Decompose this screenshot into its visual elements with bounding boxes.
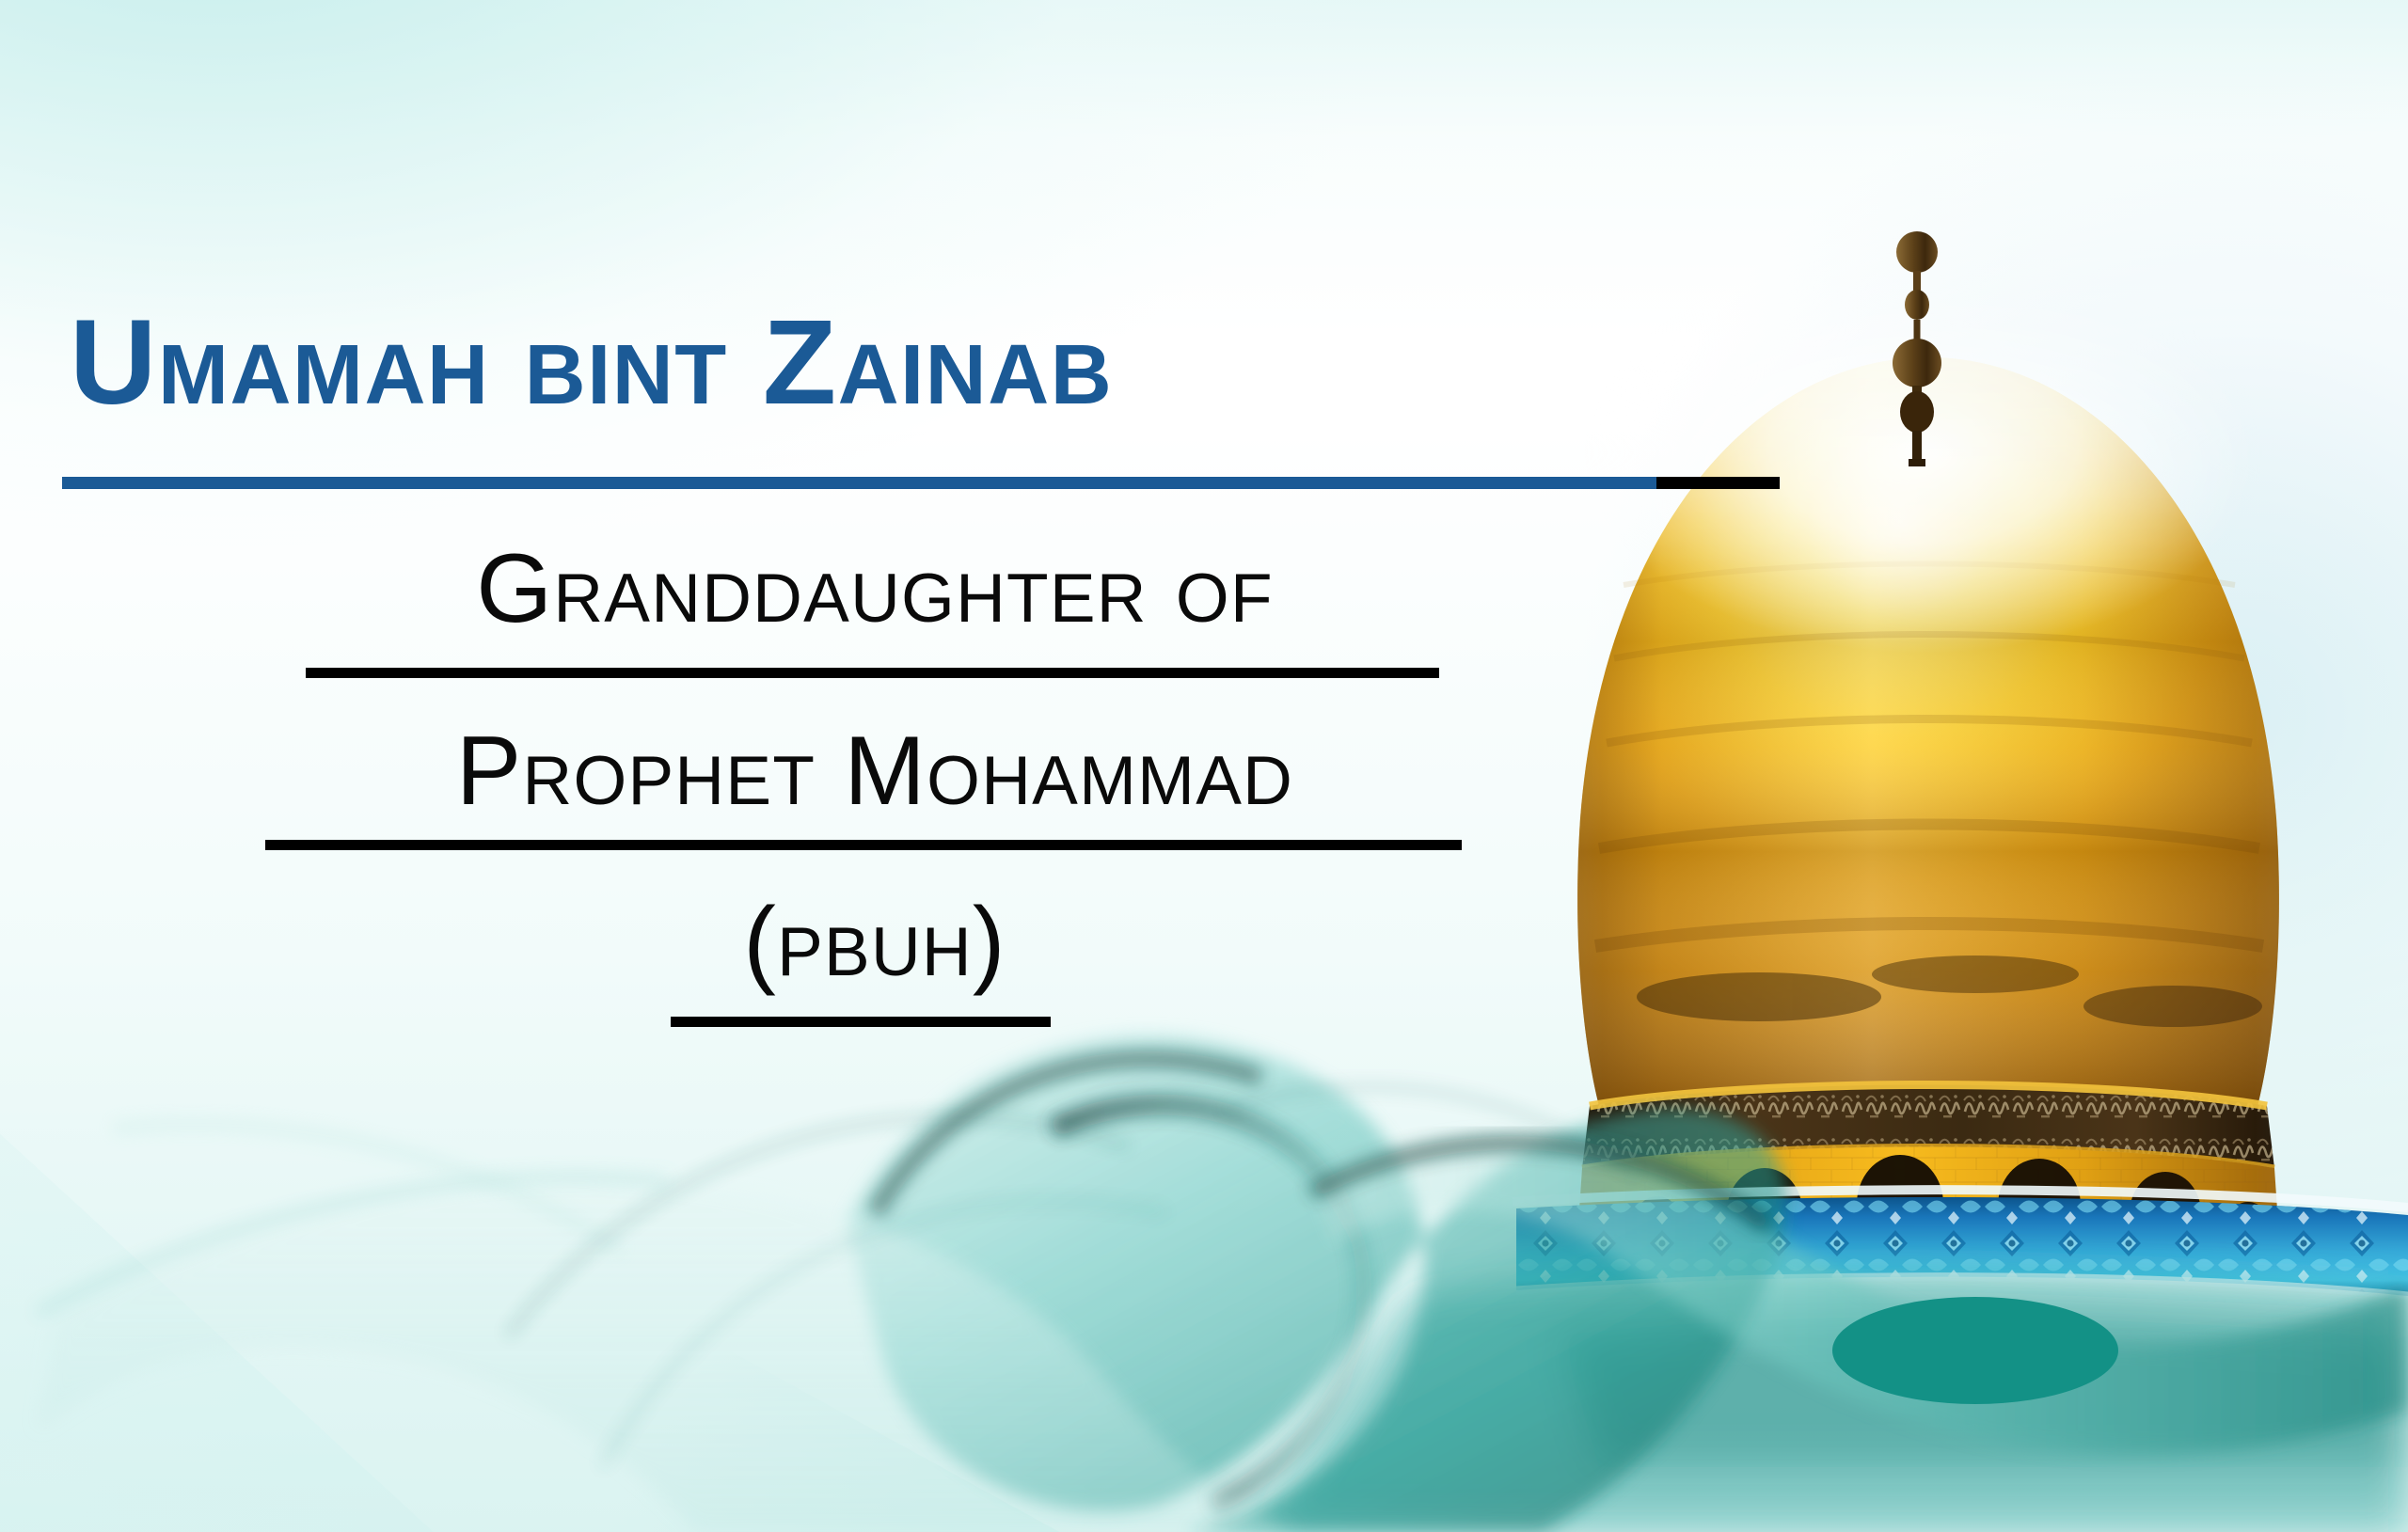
ribbon-pale-left <box>38 1125 1298 1532</box>
subtitle-underline-2 <box>265 840 1462 850</box>
title-underline <box>62 477 1656 489</box>
balustrade <box>1731 1249 2201 1251</box>
subtitle-line-2: Prophet Mohammad <box>0 722 1750 820</box>
title-row: Umamah bint Zainab <box>62 299 1727 487</box>
subtitle-underline-3 <box>671 1017 1051 1027</box>
subtitle-line-1: Granddaughter of <box>0 540 1750 638</box>
arched-gallery <box>1575 1147 2282 1252</box>
presentation-slide: Umamah bint Zainab Granddaughter of Prop… <box>0 0 2408 1532</box>
arch-openings <box>1633 1155 2271 1251</box>
ribbon-secondary <box>1312 1136 2408 1454</box>
slide-text-block: Umamah bint Zainab Granddaughter of Prop… <box>0 0 1787 1129</box>
teal-wash <box>1260 1269 2408 1532</box>
page-title: Umamah bint Zainab <box>70 299 1113 427</box>
subtitle-line-3: (pbuh) <box>0 893 1750 991</box>
teal-ellipse-accent <box>1832 1297 2118 1404</box>
blue-tile-band <box>1513 1190 2408 1296</box>
dome-finial-spire <box>1893 231 1941 466</box>
ribbon-filaments <box>508 1087 1637 1467</box>
title-underline-tail <box>1656 477 1780 489</box>
subtitle-underline-1 <box>306 668 1439 678</box>
